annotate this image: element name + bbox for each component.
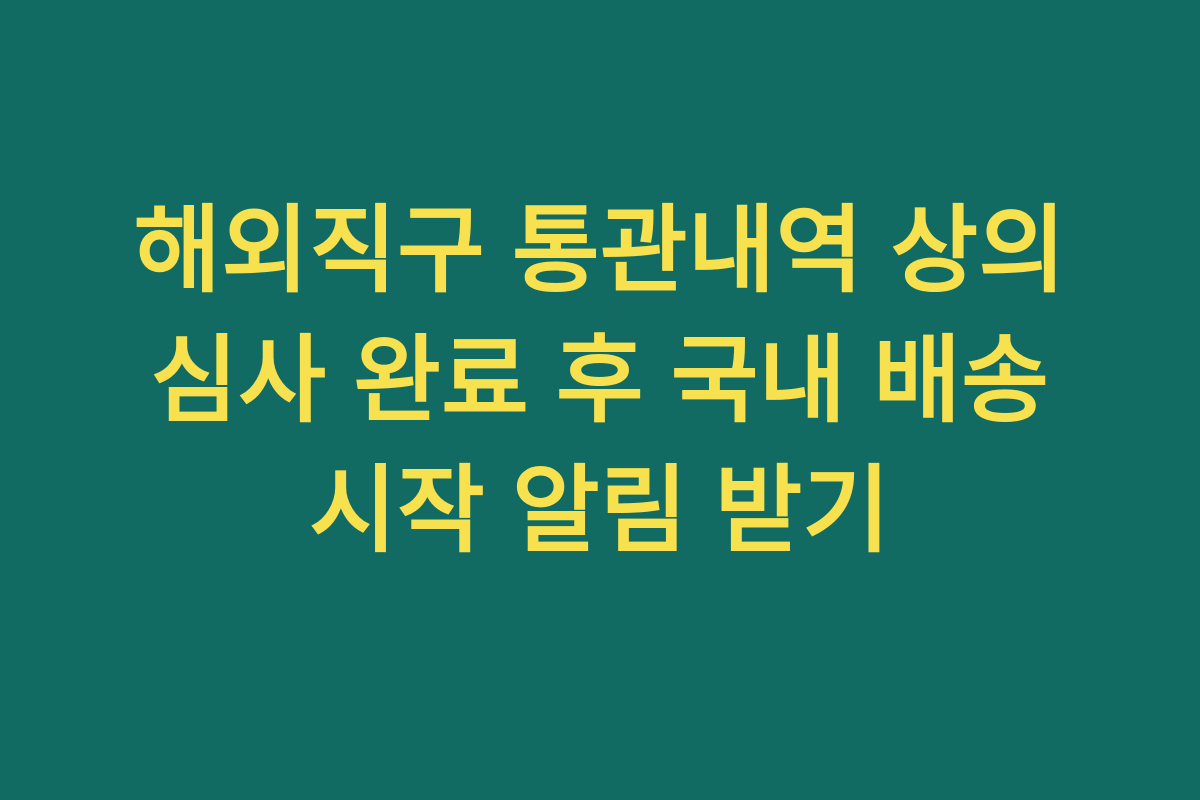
headline-block: 해외직구 통관내역 상의 심사 완료 후 국내 배송 시작 알림 받기: [0, 186, 1200, 614]
headline-line-1: 해외직구 통관내역 상의: [0, 186, 1200, 316]
banner-canvas: 해외직구 통관내역 상의 심사 완료 후 국내 배송 시작 알림 받기: [0, 0, 1200, 800]
headline-line-2: 심사 완료 후 국내 배송: [0, 316, 1200, 446]
headline-line-3: 시작 알림 받기: [0, 446, 1200, 576]
